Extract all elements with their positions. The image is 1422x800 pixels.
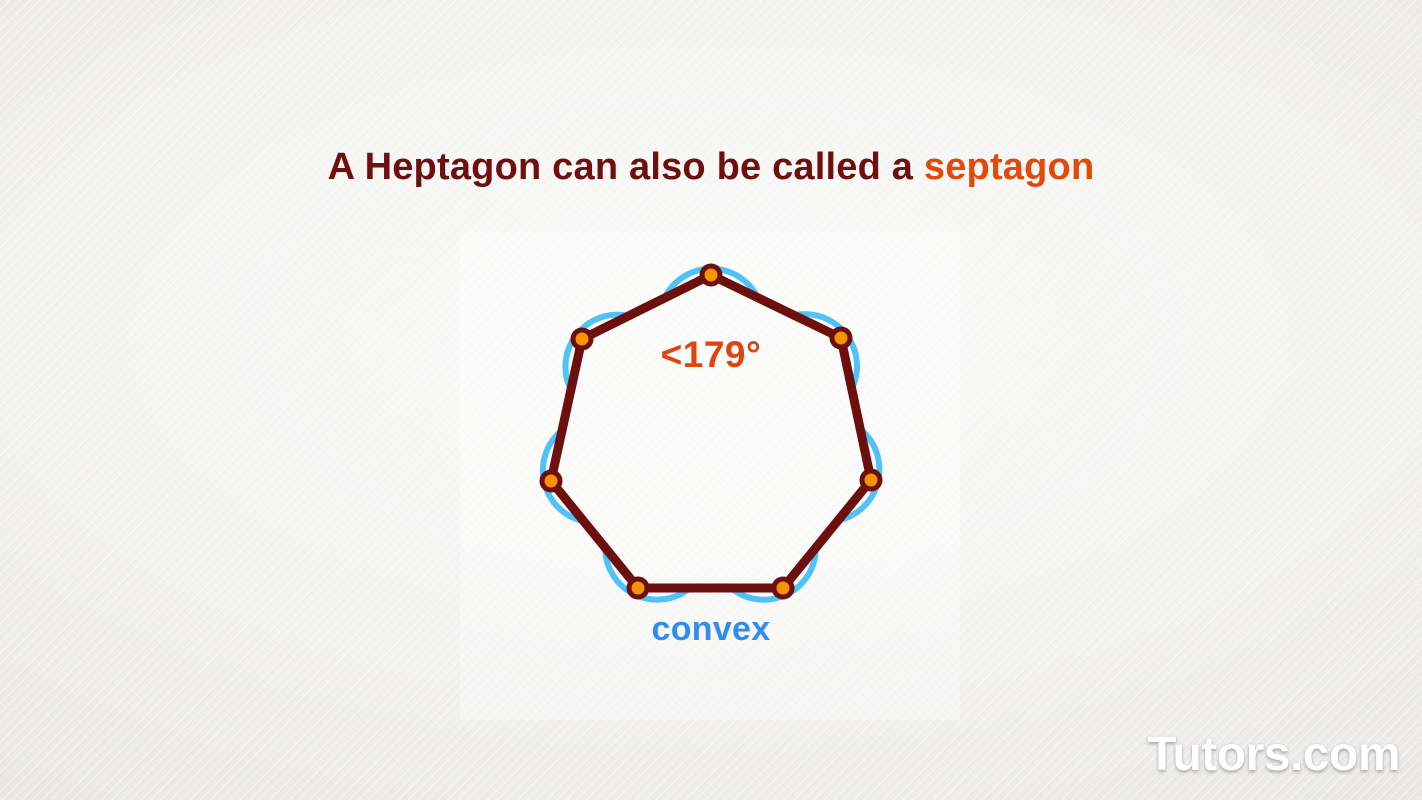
convex-label: convex	[0, 610, 1422, 649]
vertex-dots	[542, 266, 880, 597]
vertex-dot	[774, 579, 792, 597]
angle-measure-label: <179°	[0, 334, 1422, 376]
heptagon-outline	[551, 275, 871, 588]
tutors-watermark: Tutors.com	[1147, 727, 1400, 782]
vertex-dot	[862, 471, 880, 489]
vertex-dot	[629, 579, 647, 597]
slide-canvas: A Heptagon can also be called a septagon…	[0, 0, 1422, 800]
vertex-dot	[702, 266, 720, 284]
interior-angle-arcs	[543, 269, 880, 600]
vertex-dot	[542, 472, 560, 490]
heptagon-diagram	[0, 0, 1422, 800]
